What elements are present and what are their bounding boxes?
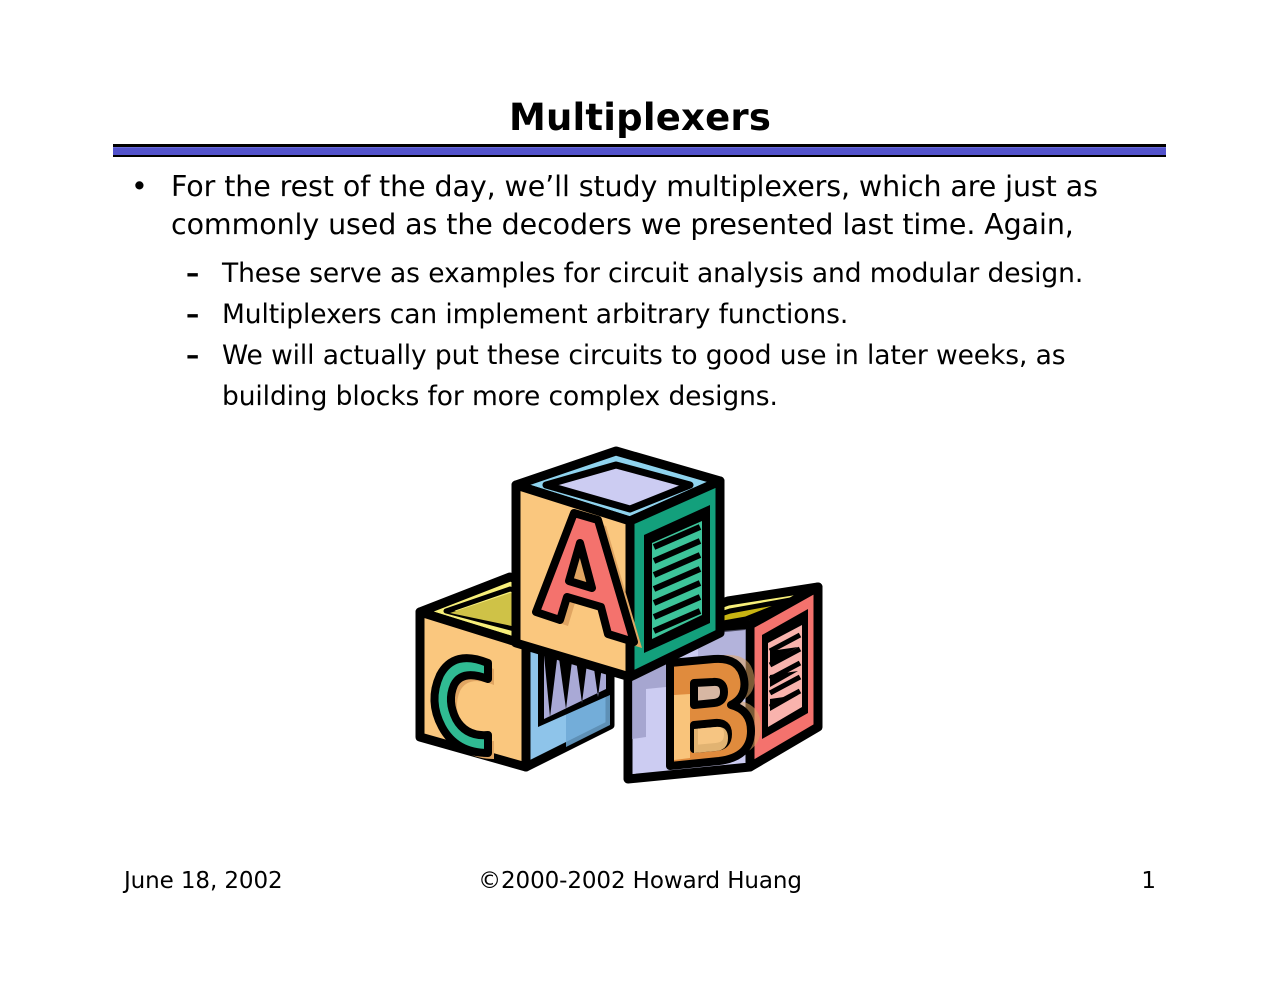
bullet-level2-1-text: These serve as examples for circuit anal…	[222, 258, 1083, 289]
footer-copyright: ©2000-2002 Howard Huang	[0, 866, 1280, 896]
dash-marker-icon: –	[186, 335, 199, 376]
dash-marker-icon: –	[186, 294, 199, 335]
bullet-level2-2-text: Multiplexers can implement arbitrary fun…	[222, 299, 848, 330]
slide-body: • For the rest of the day, we’ll study m…	[0, 168, 1280, 417]
bullet-level1: • For the rest of the day, we’ll study m…	[0, 168, 1280, 244]
alphabet-blocks-image	[398, 437, 868, 812]
bullet-level2-3-text: We will actually put these circuits to g…	[222, 340, 1065, 412]
dash-marker-icon: –	[186, 253, 199, 294]
bullet-level2-1: – These serve as examples for circuit an…	[0, 253, 1280, 294]
bullet-marker-icon: •	[131, 168, 148, 206]
bullet-level2-2: – Multiplexers can implement arbitrary f…	[0, 294, 1280, 335]
block-b-letter-highlight	[674, 694, 690, 760]
title-divider	[113, 144, 1166, 157]
title-divider-fill	[113, 147, 1166, 155]
bullet-level1-text: For the rest of the day, we’ll study mul…	[171, 170, 1098, 241]
page-title: Multiplexers	[0, 96, 1280, 140]
bullet-level2-3: – We will actually put these circuits to…	[0, 335, 1280, 417]
footer-page-number: 1	[1141, 866, 1156, 896]
